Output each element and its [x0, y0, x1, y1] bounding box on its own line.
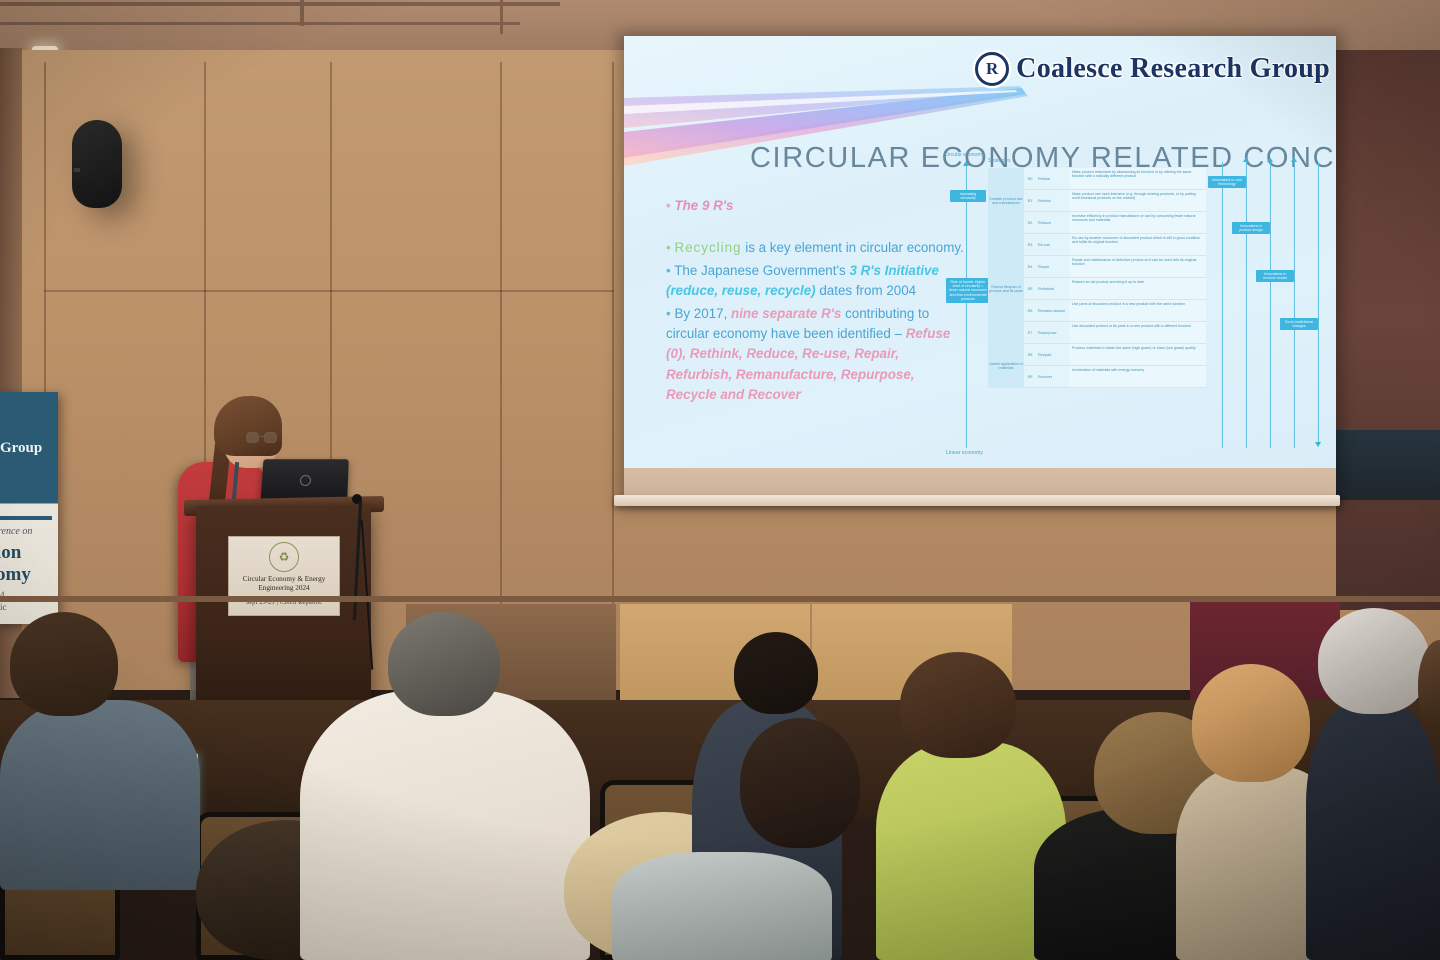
bullet-recycling-text: is a key element in circular economy.: [742, 240, 964, 255]
strategy-code: R4: [1024, 256, 1036, 277]
diagram-callout-2: Innovations in revenue model: [1256, 270, 1294, 282]
wainscot-trim: [0, 596, 1440, 602]
speaker-hair: [214, 396, 282, 456]
ceiling-rail: [300, 0, 304, 26]
bullet-9rs: • The 9 R's: [666, 196, 966, 216]
strategy-name: Reduce: [1036, 212, 1069, 233]
bullet-recycling-keyword: Recycling: [674, 240, 741, 255]
podium-emblem-icon: ♻: [269, 542, 299, 572]
bullet-2017: • By 2017, nine separate R's contributin…: [666, 304, 966, 406]
strategy-code: R2: [1024, 212, 1036, 233]
right-wall-dark: [1336, 50, 1440, 610]
projection-screen: R Coalesce Research Group CIRCULAR ECONO…: [624, 36, 1336, 506]
bullet-japan-pre: The Japanese Government's: [674, 263, 849, 278]
audience-person-head: [1192, 664, 1310, 782]
strategy-name: Refurbish: [1036, 278, 1069, 299]
strategy-name: Repair: [1036, 256, 1069, 277]
ceiling-rail: [500, 0, 503, 34]
diagram-box-increasing: Increasing circularity: [950, 190, 986, 202]
strategy-code: R0: [1024, 168, 1036, 189]
wall-seam: [500, 62, 502, 622]
slide-surface: R Coalesce Research Group CIRCULAR ECONO…: [624, 36, 1336, 468]
banner-line-2: ion: [0, 542, 21, 564]
strategy-description: Process materials to obtain the same (hi…: [1069, 344, 1206, 365]
strategy-name: Repurpose: [1036, 322, 1069, 343]
diagram-innov-axis: [1246, 162, 1247, 448]
audience-person-head: [740, 718, 860, 848]
strategy-description: Repair and maintenance of defective prod…: [1069, 256, 1206, 277]
strategy-code: R1: [1024, 190, 1036, 211]
audience-person-head: [10, 612, 118, 716]
bullet-japan-post: dates from 2004: [816, 283, 917, 298]
strategy-code: R7: [1024, 322, 1036, 343]
strategy-description: Incineration of materials with energy re…: [1069, 366, 1206, 387]
podium-sign-line1: Circular Economy & Energy: [229, 575, 339, 584]
diagram-innov-axis: [1222, 162, 1223, 448]
screen-lower-blank: [624, 468, 1336, 498]
coalesce-mark-icon: R: [975, 52, 1009, 86]
bullet-2017-em: nine separate R's: [731, 306, 841, 321]
strategy-description: Increase efficiency in product manufactu…: [1069, 212, 1206, 233]
diagram-linear-arrow-icon: [1315, 442, 1321, 447]
audience-person-head: [900, 652, 1016, 758]
strategy-code: R6: [1024, 300, 1036, 321]
banner-line-1: rence on: [0, 526, 32, 537]
ceiling-rail: [0, 22, 520, 25]
strategy-name: Recycle: [1036, 344, 1069, 365]
strategies-table: Smarter product use and manufactureR0Ref…: [988, 168, 1206, 388]
screen-bottom-bar: [614, 495, 1340, 506]
slide-bullets: • The 9 R's • Recycling is a key element…: [666, 196, 966, 407]
diagram-callout-0: Innovations in core technology: [1208, 176, 1246, 188]
podium-sign: ♻ Circular Economy & Energy Engineering …: [228, 536, 340, 616]
diagram-callout-3: Socio-institutional changes: [1280, 318, 1318, 330]
banner-line-3: omy: [0, 564, 31, 586]
strategy-name: Remanu-facture: [1036, 300, 1069, 321]
diagram-innov-arrow-icon: [1291, 157, 1297, 162]
bullet-9rs-lead: The 9 R: [674, 198, 722, 213]
presenter-laptop: [261, 459, 349, 501]
bullet-japan-initiative: 3 R's Initiative: [849, 263, 939, 278]
audience-person-body: [1306, 700, 1440, 960]
bullet-japan: • The Japanese Government's 3 R's Initia…: [666, 261, 966, 302]
audience-person-head: [1318, 608, 1430, 714]
podium: ♻ Circular Economy & Energy Engineering …: [196, 506, 371, 716]
banner-rule: [0, 516, 52, 520]
bullet-recycling: • Recycling is a key element in circular…: [666, 238, 966, 258]
audience-person-body: [300, 690, 590, 960]
diagram-callout-1: Innovations in product design: [1232, 222, 1270, 234]
right-wall-band: [1336, 430, 1440, 500]
bullet-japan-3rs: (reduce, reuse, recycle): [666, 283, 816, 298]
diagram-innov-arrow-icon: [1243, 157, 1249, 162]
diagram-linear-axis: [1318, 162, 1319, 442]
audience-person-body: [612, 852, 832, 960]
wall-speaker-icon: [72, 120, 122, 208]
strategy-name: Refuse: [1036, 168, 1069, 189]
strategy-description: Restore an old product and bring it up t…: [1069, 278, 1206, 299]
diagram-innov-axis: [1270, 162, 1271, 448]
diagram-innov-arrow-icon: [1267, 157, 1273, 162]
strategy-description: Use discarded product or its parts in a …: [1069, 322, 1206, 343]
circularity-diagram: Circular economy Linear economy Increasi…: [936, 154, 1324, 459]
strategy-description: Re-use by another consumer of discarded …: [1069, 234, 1206, 255]
audience-person-body: [0, 700, 200, 890]
strategy-description: Make product redundant by abandoning its…: [1069, 168, 1206, 189]
strategy-group-label: Smarter product use and manufacture: [988, 168, 1024, 234]
watermark-text: Coalesce Research Group: [1016, 53, 1330, 85]
strategy-code: R5: [1024, 278, 1036, 299]
speaker-glasses-icon: [246, 432, 278, 443]
strategy-name: Re-use: [1036, 234, 1069, 255]
wall-seam: [612, 62, 614, 622]
strategy-name: Recover: [1036, 366, 1069, 387]
diagram-axis: [966, 166, 967, 448]
strategy-group-label: Useful application of materials: [988, 344, 1024, 388]
bullet-9rs-suffix: 's: [723, 198, 734, 213]
strategy-code: R9: [1024, 366, 1036, 387]
diagram-axis-arrow-icon: [963, 161, 969, 166]
diagram-box-rule: Rule of thumb: Higher level of circulari…: [946, 278, 990, 303]
watermark-logo: R Coalesce Research Group: [975, 52, 1330, 86]
banner-line-5: ic: [0, 602, 7, 612]
banner-group-text: Group: [0, 440, 42, 457]
diagram-axis-top-label: Circular economy: [944, 152, 984, 158]
laptop-logo-icon: [300, 475, 312, 486]
strategy-name: Rethink: [1036, 190, 1069, 211]
conference-room-photo: R Coalesce Research Group CIRCULAR ECONO…: [0, 0, 1440, 960]
ceiling-rail: [0, 2, 560, 6]
diagram-axis-bottom-label: Linear economy: [946, 450, 983, 456]
wall-speaker-mount-icon: [74, 168, 80, 172]
diagram-innov-axis: [1294, 162, 1295, 448]
strategy-code: R3: [1024, 234, 1036, 255]
audience-person-head: [388, 612, 500, 716]
strategy-group-label: Extend lifespan of product and its parts: [988, 234, 1024, 344]
strategy-description: Use parts of discarded product in a new …: [1069, 300, 1206, 321]
strategy-code: R8: [1024, 344, 1036, 365]
wall-seam: [44, 290, 614, 292]
bullet-2017-pre: By 2017,: [674, 306, 731, 321]
audience-person-head: [734, 632, 818, 714]
strategy-description: Make product use more intensive (e.g. th…: [1069, 190, 1206, 211]
diagram-strategies-header: Strategies: [988, 158, 1011, 164]
podium-sign-line2: Engineering 2024: [229, 584, 339, 593]
conference-banner: Group rence on ion omy 4 ic: [0, 392, 58, 624]
